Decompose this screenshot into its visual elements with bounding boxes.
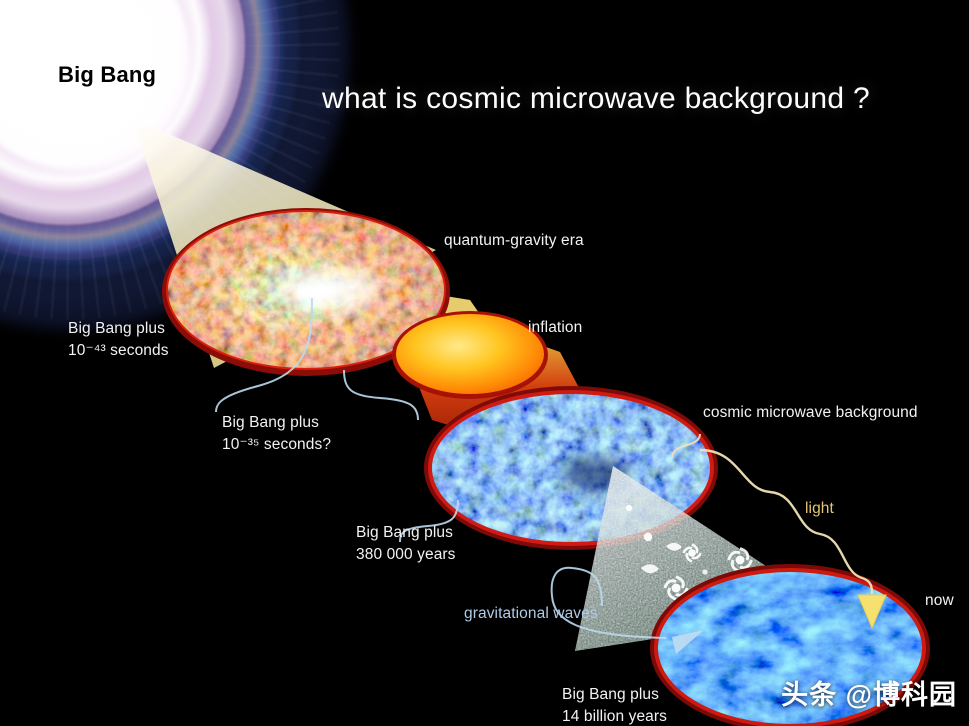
label-recombination-time: Big Bang plus 380 000 years [356,522,456,566]
label-inflation: inflation [528,317,582,339]
label-inflation-time: Big Bang plus 10⁻³⁵ seconds? [222,412,331,456]
label-present-time: Big Bang plus 14 billion years [562,684,667,726]
watermark: 头条 @博科园 [781,673,957,712]
inflation-disc [396,314,544,394]
label-planck-time: Big Bang plus 10⁻⁴³ seconds [68,318,169,362]
label-light: light [805,498,834,520]
cosmology-timeline-infographic: Big Bang what is cosmic microwave backgr… [0,0,969,726]
page-title: what is cosmic microwave background ? [322,82,870,116]
label-now: now [925,590,954,612]
label-cosmic-microwave-background: cosmic microwave background [703,402,918,424]
label-gravitational-waves: gravitational waves [464,603,598,625]
bigbang-label: Big Bang [58,62,156,88]
label-quantum-gravity-era: quantum-gravity era [444,230,584,252]
